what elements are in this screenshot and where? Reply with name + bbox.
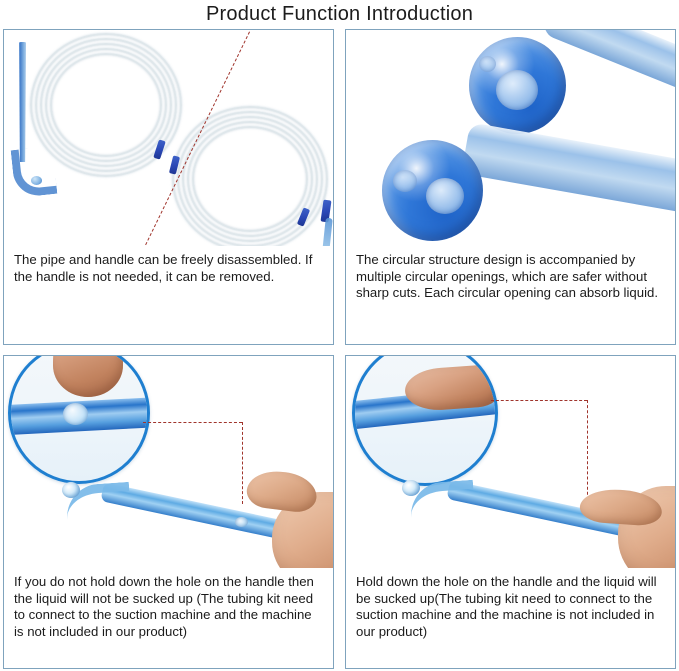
index-finger-raised xyxy=(245,468,319,514)
suction-opening-lower-small xyxy=(393,170,417,192)
panel-hole-open: If you do not hold down the hole on the … xyxy=(3,355,334,669)
photo-disassembly xyxy=(4,30,333,246)
dashed-callout-vertical xyxy=(242,422,243,504)
panel-disassembly: The pipe and handle can be freely disass… xyxy=(3,29,334,345)
handle-wand-tip xyxy=(62,482,80,498)
caption-hole-covered: Hold down the hole on the handle and the… xyxy=(346,570,675,668)
suction-opening-upper-small xyxy=(479,56,496,72)
handle-tip xyxy=(31,176,42,185)
coil-tube-a xyxy=(50,53,162,157)
caption-circular-openings: The circular structure design is accompa… xyxy=(346,248,675,344)
photo-hole-open xyxy=(4,356,333,568)
suction-opening-upper xyxy=(496,70,538,110)
panel-grid: The pipe and handle can be freely disass… xyxy=(3,29,676,669)
page-title-bar: Product Function Introduction xyxy=(0,0,679,28)
photo-hole-covered xyxy=(346,356,675,568)
suction-opening-lower xyxy=(426,178,464,214)
magnifier-inset-covered xyxy=(352,356,498,486)
magnified-finger-raised xyxy=(53,356,123,397)
dashed-callout-horizontal xyxy=(143,422,242,423)
tube-free-end xyxy=(322,218,333,246)
panel-hole-covered: Hold down the hole on the handle and the… xyxy=(345,355,676,669)
detached-handle xyxy=(17,42,28,162)
coil-tube-b xyxy=(192,126,308,232)
magnifier-inset-open xyxy=(8,356,150,484)
suction-tube-shaft-lower xyxy=(461,122,675,213)
caption-disassembly: The pipe and handle can be freely disass… xyxy=(4,248,333,344)
handle-wand-tip xyxy=(402,480,420,496)
photo-circular-openings xyxy=(346,30,675,246)
page-title: Product Function Introduction xyxy=(206,3,473,26)
magnified-finger-pressing xyxy=(404,364,498,413)
dashed-callout-horizontal xyxy=(491,400,587,401)
dashed-callout-vertical xyxy=(587,400,588,505)
panel-circular-openings: The circular structure design is accompa… xyxy=(345,29,676,345)
handle-vent-hole xyxy=(235,517,248,527)
magnified-vent-hole xyxy=(63,403,88,425)
caption-hole-open: If you do not hold down the hole on the … xyxy=(4,570,333,668)
